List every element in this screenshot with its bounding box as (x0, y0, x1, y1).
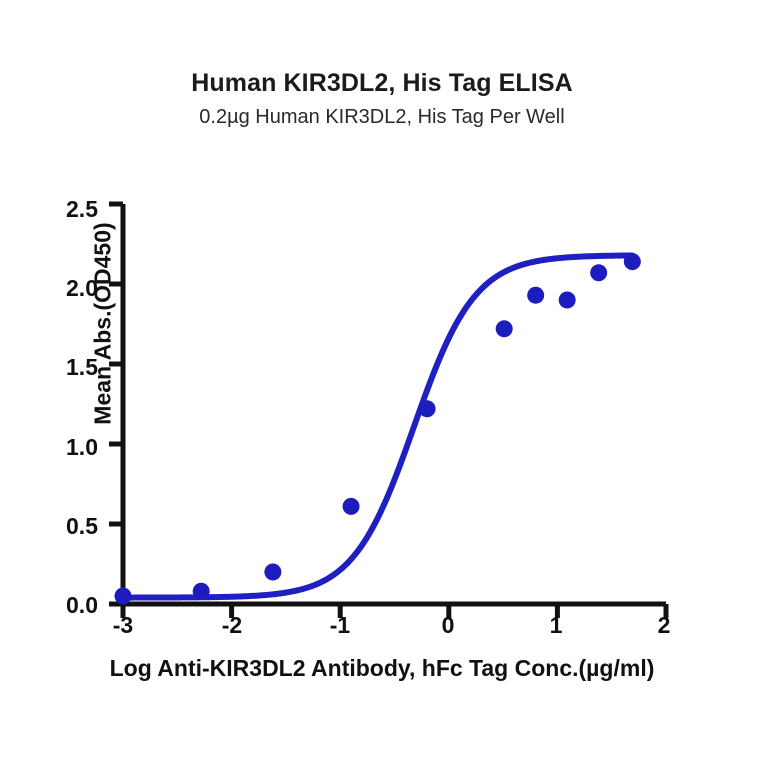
plot-svg (0, 0, 764, 764)
elisa-chart-figure: Human KIR3DL2, His Tag ELISA 0.2µg Human… (0, 0, 764, 764)
axis-lines (121, 204, 666, 604)
data-point (496, 320, 513, 337)
data-point (115, 588, 132, 605)
data-point (264, 564, 281, 581)
data-point (343, 498, 360, 515)
data-point (590, 264, 607, 281)
data-point (193, 583, 210, 600)
data-point (419, 400, 436, 417)
data-point (624, 253, 641, 270)
fit-curve (123, 255, 632, 597)
data-point (559, 292, 576, 309)
data-points (115, 253, 641, 604)
plot-area: Mean Abs.(OD450) Log Anti-KIR3DL2 Antibo… (0, 0, 764, 764)
data-point (527, 287, 544, 304)
